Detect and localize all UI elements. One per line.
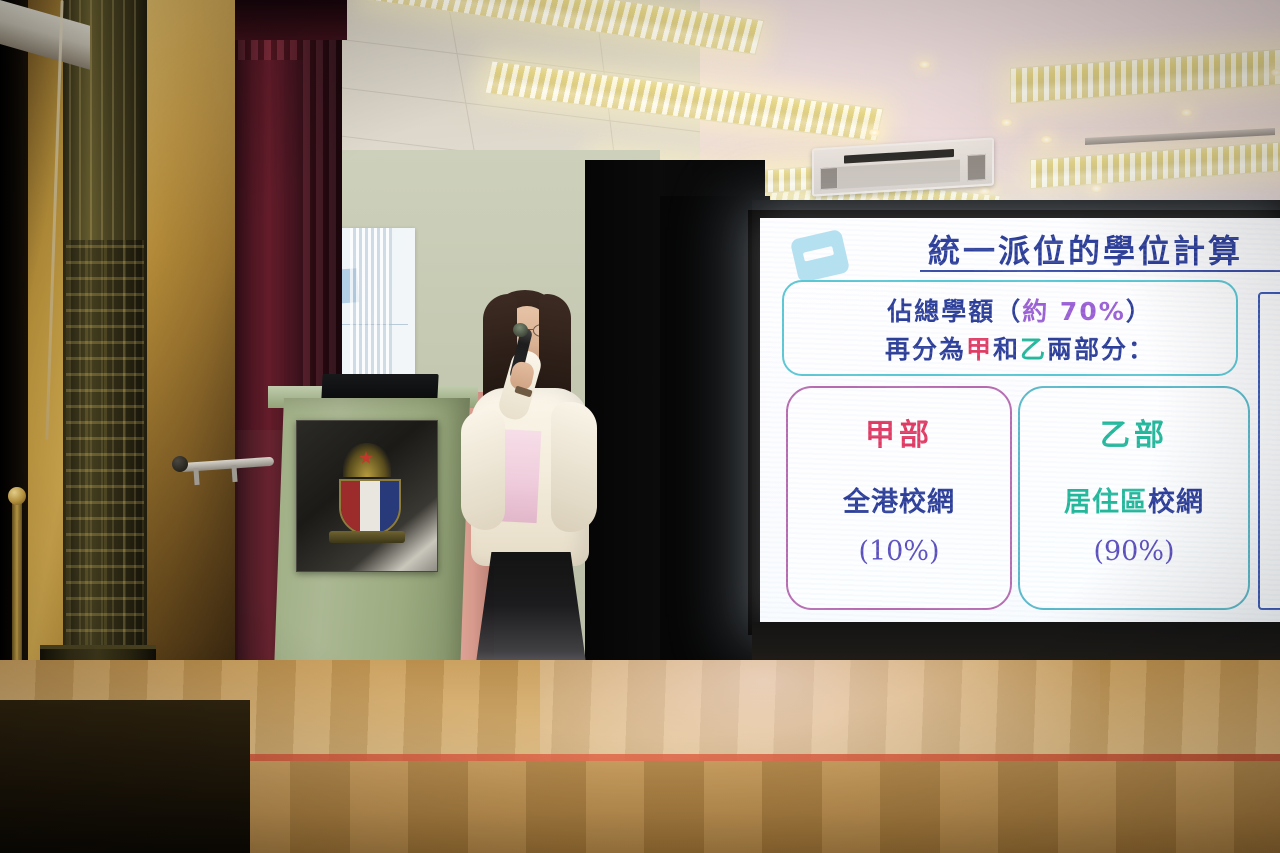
slide-title: 統一派位的學位計算: [928, 226, 1280, 272]
confidence-monitor: [321, 374, 438, 400]
ceiling-downlight: [978, 186, 991, 195]
ac-vent-left: [820, 167, 838, 190]
part-b-subtitle-teal: 居住區: [1064, 487, 1148, 518]
projection-screen[interactable]: 統一派位的學位計算 佔總學額（約 70%） 再分為甲和乙兩部分： 甲部 全港校網…: [760, 218, 1280, 623]
sleeve-right: [551, 402, 597, 532]
lower-left-shadow: [0, 700, 250, 853]
part-a-heading: 甲部: [788, 410, 1010, 454]
crest-emblem: [323, 439, 409, 543]
summary-mark-b: 乙: [1020, 335, 1047, 364]
school-crest-plaque: [296, 420, 438, 572]
summary-l2-p1: 再分為: [885, 335, 966, 364]
stage-edge-strip: [232, 754, 1280, 761]
summary-l2-p2: 和: [993, 335, 1020, 364]
slide-summary-line-2: 再分為甲和乙兩部分：: [760, 330, 1280, 366]
card-badge-icon: [790, 229, 851, 284]
summary-mark-a: 甲: [966, 335, 993, 364]
ceiling-downlight: [868, 128, 881, 137]
ceiling-light-panel: [756, 166, 818, 194]
part-a-percent: (10%): [788, 536, 1010, 567]
ceiling-downlight: [1180, 108, 1193, 117]
ceiling-downlight: [1040, 135, 1053, 144]
part-b-percent: (90%): [1020, 536, 1248, 567]
ac-vent-right: [967, 154, 986, 181]
sleeve-left: [461, 410, 505, 530]
part-b-heading: 乙部: [1020, 410, 1248, 454]
crest-shield-icon: [339, 479, 401, 535]
summary-suffix: ）: [1126, 297, 1153, 326]
summary-prefix: 佔總學額（: [887, 297, 1022, 326]
slide-part-b-box: 乙部 居住區校網 (90%): [1018, 386, 1250, 610]
handrail-end-cap: [172, 456, 188, 472]
part-b-subtitle: 居住區校網: [1020, 480, 1248, 519]
ceiling-downlight: [1000, 118, 1013, 127]
stage-front-face: [232, 761, 1280, 853]
ceiling-downlight: [1090, 184, 1103, 193]
summary-l2-p3: 兩部分：: [1047, 335, 1155, 364]
card-badge-bar-icon: [803, 246, 834, 262]
ceiling-downlight: [918, 60, 931, 69]
crest-ribbon: [329, 531, 405, 543]
maroon-curtain-valance: [232, 0, 347, 40]
slide-summary-line-1: 佔總學額（約 70%）: [760, 292, 1280, 328]
part-b-subtitle-navy: 校網: [1148, 487, 1204, 518]
slide-title-underline: [920, 270, 1280, 272]
slide-offscreen-box: [1258, 292, 1280, 610]
ac-panel: [838, 160, 960, 189]
slide-part-a-box: 甲部 全港校網 (10%): [786, 386, 1012, 610]
below-screen-dark-band: [752, 622, 1280, 662]
column-ornament-pattern: [66, 240, 144, 680]
summary-highlight: 約 70%: [1022, 297, 1126, 326]
ceiling-downlight: [1270, 68, 1280, 77]
brass-stanchion-knob: [8, 487, 26, 505]
presentation-hall-photo: 外 再 統一派位的學位計算 佔總學額: [0, 0, 1280, 853]
part-a-subtitle: 全港校網: [788, 480, 1010, 519]
